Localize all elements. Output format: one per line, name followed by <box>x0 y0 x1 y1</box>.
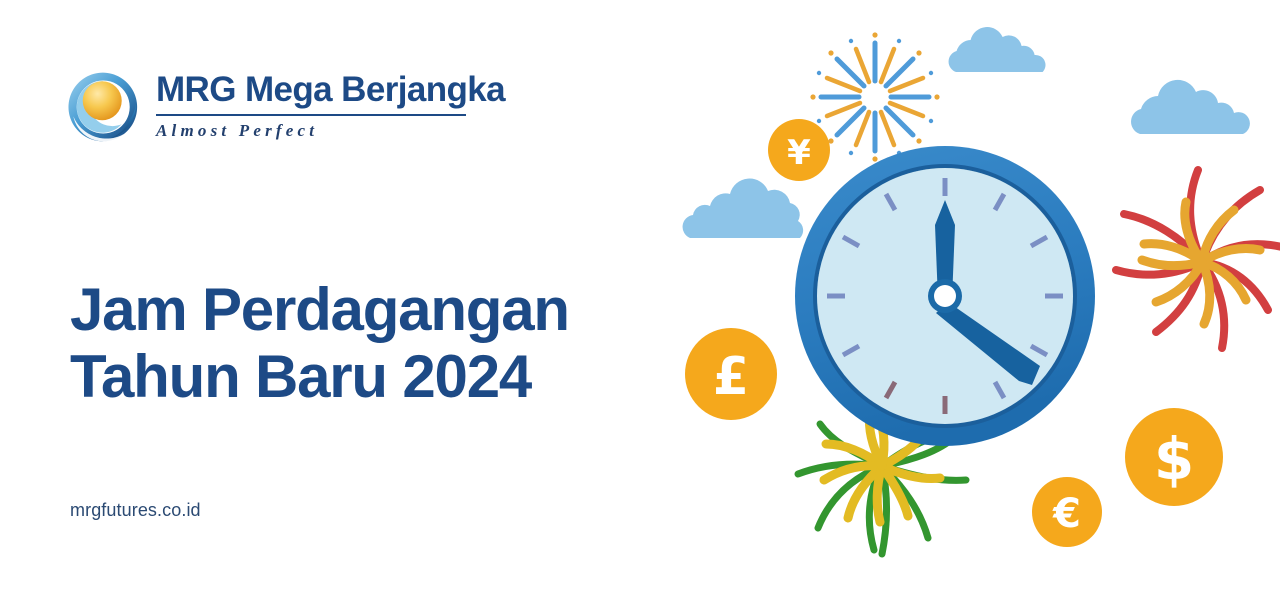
brand-text-block: MRG Mega Berjangka Almost Perfect <box>156 62 505 141</box>
svg-text:£: £ <box>713 347 749 407</box>
brand-lockup: MRG Mega Berjangka Almost Perfect <box>64 62 505 146</box>
svg-text:€: € <box>1052 491 1081 537</box>
firework-starburst-blue-gold-icon <box>810 32 939 161</box>
brand-name: MRG Mega Berjangka <box>156 72 505 107</box>
euro-coin-icon: € <box>1032 477 1102 547</box>
cloud-shape <box>1131 80 1250 134</box>
website-url: mrgfutures.co.id <box>70 500 201 521</box>
dollar-coin-icon: $ <box>1125 408 1223 506</box>
cloud-shape <box>949 27 1046 72</box>
svg-text:¥: ¥ <box>787 133 811 173</box>
headline-line-1: Jam Perdagangan <box>70 276 569 343</box>
yen-coin-icon: ¥ <box>768 119 830 181</box>
new-year-trading-hours-illustration: ¥ £ € $ <box>640 0 1280 592</box>
headline-line-2: Tahun Baru 2024 <box>70 343 569 410</box>
pound-coin-icon: £ <box>685 328 777 420</box>
firework-burst-red-gold-icon <box>1116 170 1280 348</box>
wall-clock-icon <box>795 146 1095 446</box>
mrg-swirl-globe-logo-icon <box>64 68 142 146</box>
poster-canvas: MRG Mega Berjangka Almost Perfect Jam Pe… <box>0 0 1280 592</box>
page-title: Jam Perdagangan Tahun Baru 2024 <box>70 276 569 410</box>
brand-tagline: Almost Perfect <box>156 121 505 141</box>
brand-divider <box>156 114 466 116</box>
svg-text:$: $ <box>1154 425 1194 493</box>
cloud-shape <box>683 179 804 238</box>
